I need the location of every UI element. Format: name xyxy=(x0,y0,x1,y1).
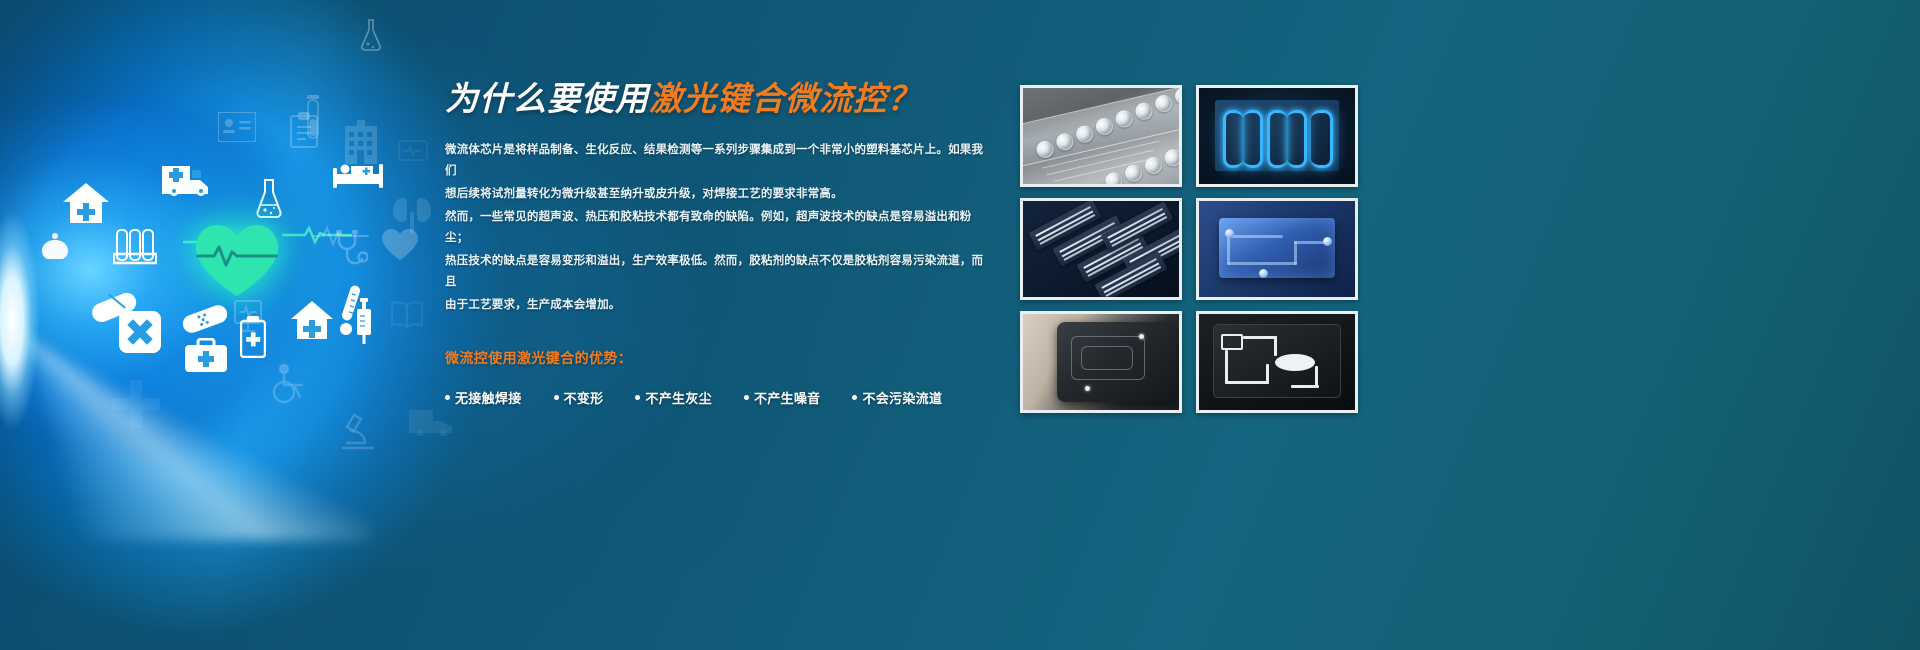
channel-line xyxy=(1225,350,1228,384)
headline-lead: 为什么要使用 xyxy=(445,80,649,117)
groove xyxy=(1294,241,1297,265)
paragraph-line: 然而，一些常见的超声波、热压和胶粘技术都有致命的缺陷。例如，超声波技术的缺点是容… xyxy=(445,207,990,249)
list-item: 不产生噪音 xyxy=(744,388,821,407)
serpentine-channel-photo[interactable] xyxy=(1196,85,1358,187)
home-cross-icon xyxy=(290,300,334,340)
channel-line xyxy=(1291,385,1319,388)
plus-block-icon xyxy=(110,378,162,430)
channel-segment xyxy=(1223,110,1243,168)
list-item: 不会污染流道 xyxy=(852,388,942,407)
channel-square xyxy=(1221,334,1243,350)
groove xyxy=(1227,235,1230,265)
manifold-body xyxy=(1219,218,1334,278)
reservoir-oval xyxy=(1275,354,1315,371)
advantages-list: 无接触焊接 不变形 不产生灰尘 不产生噪音 不会污染流道 xyxy=(445,388,990,407)
list-item-label: 无接触焊接 xyxy=(455,388,522,407)
kidney-icon xyxy=(392,196,432,236)
channel-line xyxy=(1274,336,1277,356)
bullet-dot-icon xyxy=(852,395,857,400)
channel-line xyxy=(1225,381,1269,384)
port xyxy=(1259,269,1268,278)
medical-cross-badge-icon xyxy=(118,310,162,354)
flask-icon xyxy=(358,18,384,52)
channel-line xyxy=(1243,336,1277,339)
groove xyxy=(1227,262,1297,265)
flask-filled-icon xyxy=(253,177,285,221)
advantages-subheading: 微流控使用激光键合的优势： xyxy=(445,348,990,368)
product-photo-grid xyxy=(1020,85,1358,413)
book-icon xyxy=(390,300,424,330)
well-array xyxy=(1020,85,1182,187)
black-cartridge-channels-photo[interactable] xyxy=(1196,311,1358,413)
channel-line xyxy=(1266,364,1269,384)
port-dot xyxy=(1139,334,1144,339)
groove xyxy=(1294,241,1326,244)
bullet-dot-icon xyxy=(744,395,749,400)
battery-icon xyxy=(240,316,266,358)
photo-content xyxy=(1199,314,1355,410)
list-item: 无接触焊接 xyxy=(445,388,522,407)
microchannel-strips-photo[interactable] xyxy=(1020,198,1182,300)
channel-segment xyxy=(1243,110,1263,168)
photo-content xyxy=(1023,314,1179,410)
list-item-label: 不产生灰尘 xyxy=(645,388,712,407)
test-tube-rack-icon xyxy=(112,228,158,270)
list-item-label: 不会污染流道 xyxy=(862,388,942,407)
first-aid-kit-icon xyxy=(185,338,227,372)
paragraph-line: 热压技术的缺点是容易变形和溢出，生产效率极低。然而，胶粘剂的缺点不仅是胶粘剂容易… xyxy=(445,251,990,293)
channel-segment xyxy=(1311,110,1333,168)
hospital-bed-icon xyxy=(333,160,383,188)
bullet-dot-icon xyxy=(554,395,559,400)
bullet-dot-icon xyxy=(635,395,640,400)
syringe-icon xyxy=(353,296,375,346)
hand-held-cartridge-photo[interactable] xyxy=(1020,311,1182,413)
photo-content xyxy=(1199,88,1355,184)
headline-accent: 激光键合微流控 xyxy=(649,80,887,117)
ambulance-outline-icon xyxy=(408,406,454,436)
paragraph-line: 想后续将试剂量转化为微升级甚至纳升或皮升级，对焊接工艺的要求非常高。 xyxy=(445,184,990,205)
microscope-icon xyxy=(340,412,376,452)
page-title: 为什么要使用激光键合微流控？ xyxy=(445,72,990,120)
photo-content xyxy=(1199,201,1355,297)
paragraph-line: 由于工艺要求，生产成本会增加。 xyxy=(445,295,990,316)
tooth-icon xyxy=(40,230,70,266)
heart-pulse-icon xyxy=(192,222,282,300)
list-item: 不变形 xyxy=(554,388,604,407)
headline-question-mark: ？ xyxy=(887,80,921,117)
microfluidic-chip-wells-photo[interactable] xyxy=(1020,85,1182,187)
promo-banner: 为什么要使用激光键合微流控？ 微流体芯片是将样品制备、生化反应、结果检测等一系列… xyxy=(0,0,1920,650)
list-item: 不产生灰尘 xyxy=(635,388,712,407)
ambulance-icon xyxy=(160,158,216,196)
body-paragraph: 微流体芯片是将样品制备、生化反应、结果检测等一系列步骤集成到一个非常小的塑料基芯… xyxy=(445,140,990,316)
monitor-screen-icon xyxy=(398,140,428,164)
photo-content xyxy=(1023,88,1179,184)
bullet-dot-icon xyxy=(445,395,450,400)
id-card-icon xyxy=(218,112,256,142)
channel-trace xyxy=(1081,346,1133,370)
port-dot xyxy=(1085,386,1090,391)
paragraph-line: 微流体芯片是将样品制备、生化反应、结果检测等一系列步骤集成到一个非常小的塑料基芯… xyxy=(445,140,990,182)
list-item-label: 不产生噪音 xyxy=(754,388,821,407)
building-icon xyxy=(345,120,377,164)
home-plus-icon xyxy=(62,182,110,224)
stethoscope-icon xyxy=(334,230,368,270)
list-item-label: 不变形 xyxy=(564,388,604,407)
groove xyxy=(1227,235,1283,238)
text-column: 为什么要使用激光键合微流控？ 微流体芯片是将样品制备、生化反应、结果检测等一系列… xyxy=(445,72,990,407)
manifold-block-photo[interactable] xyxy=(1196,198,1358,300)
bandage-icon xyxy=(182,304,228,334)
port xyxy=(1323,237,1332,246)
channel-segment xyxy=(1287,110,1307,168)
photo-content xyxy=(1023,201,1179,297)
wheelchair-icon xyxy=(268,362,308,404)
port xyxy=(1225,229,1234,238)
clipboard-icon xyxy=(290,112,318,148)
channel-segment xyxy=(1267,110,1287,168)
